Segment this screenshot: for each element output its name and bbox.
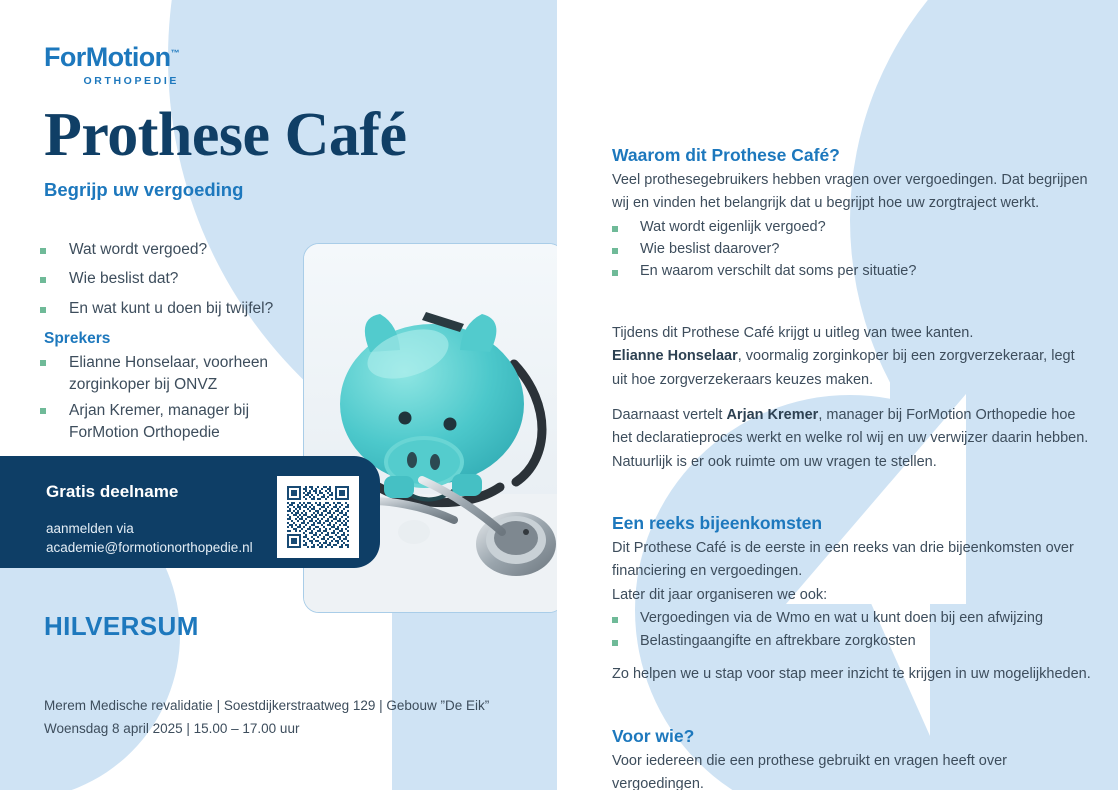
speakers-heading: Sprekers — [44, 330, 110, 348]
section-closing: Zo helpen we u stap voor stap meer inzic… — [612, 663, 1092, 686]
speaker-text: Arjan Kremer, manager bij ForMotion Orth… — [69, 400, 310, 444]
speakers-list: Elianne Honselaar, voorheen zorginkoper … — [40, 352, 310, 448]
trademark-icon: ™ — [171, 48, 179, 58]
section-speakers-intro: Tijdens dit Prothese Café krijgt u uitle… — [612, 322, 1092, 392]
bullet-icon — [612, 617, 618, 623]
series-heading: Een reeks bijeenkomsten — [612, 513, 1092, 534]
signup-title: Gratis deelname — [46, 482, 178, 502]
list-item: Wat wordt vergoed? — [40, 240, 320, 260]
qr-code-icon — [285, 484, 351, 550]
why-bullet-list: Wat wordt eigenlijk vergoed? Wie beslist… — [612, 218, 1092, 281]
list-item: En wat kunt u doen bij twijfel? — [40, 299, 320, 319]
series-bullet-text: Vergoedingen via de Wmo en wat u kunt do… — [640, 609, 1043, 628]
section-speakers-second: Daarnaast vertelt Arjan Kremer, manager … — [612, 404, 1092, 474]
for-who-paragraph: Voor iedereen die een prothese gebruikt … — [612, 750, 1092, 790]
question-list: Wat wordt vergoed? Wie beslist dat? En w… — [40, 240, 320, 328]
signup-line1: aanmelden via — [46, 520, 253, 539]
why-bullet-text: Wat wordt eigenlijk vergoed? — [640, 218, 826, 237]
list-item: Wat wordt eigenlijk vergoed? — [612, 218, 1092, 237]
second-pre: Daarnaast vertelt — [612, 407, 726, 423]
bullet-icon — [40, 360, 46, 366]
right-page: Waarom dit Prothese Café? Veel protheseg… — [560, 0, 1118, 790]
speakers-second-paragraph: Daarnaast vertelt Arjan Kremer, manager … — [612, 404, 1092, 474]
bullet-icon — [40, 277, 46, 283]
list-item: En waarom verschilt dat soms per situati… — [612, 262, 1092, 281]
page-subtitle: Begrijp uw vergoeding — [44, 179, 243, 201]
formotion-logo: ForMotion™ ORTHOPEDIE — [44, 44, 179, 87]
bullet-icon — [40, 248, 46, 254]
flyer-page: ForMotion™ ORTHOPEDIE Prothese Café Begr… — [0, 0, 1118, 790]
speaker-text: Elianne Honselaar, voorheen zorginkoper … — [69, 352, 310, 396]
question-text: Wat wordt vergoed? — [69, 240, 207, 260]
why-heading: Waarom dit Prothese Café? — [612, 145, 1092, 166]
why-bullet-text: En waarom verschilt dat soms per situati… — [640, 262, 916, 281]
question-text: Wie beslist dat? — [69, 269, 178, 289]
series-paragraph-2: Later dit jaar organiseren we ook: — [612, 584, 1092, 607]
intro-line1: Tijdens dit Prothese Café krijgt u uitle… — [612, 325, 973, 341]
city-name: HILVERSUM — [44, 611, 199, 642]
logo-subtitle: ORTHOPEDIE — [44, 75, 179, 87]
bullet-icon — [40, 307, 46, 313]
for-who-heading: Voor wie? — [612, 726, 1092, 747]
series-paragraph: Dit Prothese Café is de eerste in een re… — [612, 537, 1092, 584]
logo-word-text: ForMotion — [44, 42, 171, 72]
section-why: Waarom dit Prothese Café? Veel protheseg… — [612, 145, 1092, 284]
venue-details: Merem Medische revalidatie | Soestdijker… — [44, 694, 489, 741]
bullet-icon — [40, 408, 46, 414]
question-text: En wat kunt u doen bij twijfel? — [69, 299, 273, 319]
venue-address: Merem Medische revalidatie | Soestdijker… — [44, 694, 489, 717]
bullet-icon — [612, 226, 618, 232]
bullet-icon — [612, 640, 618, 646]
why-paragraph: Veel prothesegebruikers hebben vragen ov… — [612, 169, 1092, 216]
list-item: Vergoedingen via de Wmo en wat u kunt do… — [612, 609, 1092, 628]
qr-code[interactable] — [277, 476, 359, 558]
list-item: Elianne Honselaar, voorheen zorginkoper … — [40, 352, 310, 396]
bullet-icon — [612, 248, 618, 254]
speaker-name-2: Arjan Kremer — [726, 407, 818, 423]
venue-datetime: Woensdag 8 april 2025 | 15.00 – 17.00 uu… — [44, 717, 489, 740]
list-item: Wie beslist daarover? — [612, 240, 1092, 259]
signup-email[interactable]: academie@formotionorthopedie.nl — [46, 539, 253, 558]
closing-paragraph: Zo helpen we u stap voor stap meer inzic… — [612, 663, 1092, 686]
list-item: Belastingaangifte en aftrekbare zorgkost… — [612, 632, 1092, 651]
series-bullet-text: Belastingaangifte en aftrekbare zorgkost… — [640, 632, 916, 651]
section-for-who: Voor wie? Voor iedereen die een prothese… — [612, 726, 1092, 790]
series-bullet-list: Vergoedingen via de Wmo en wat u kunt do… — [612, 609, 1092, 650]
logo-wordmark: ForMotion™ — [44, 44, 179, 71]
bullet-icon — [612, 270, 618, 276]
why-bullet-text: Wie beslist daarover? — [640, 240, 779, 259]
left-page: ForMotion™ ORTHOPEDIE Prothese Café Begr… — [0, 0, 557, 790]
page-title: Prothese Café — [44, 104, 407, 166]
signup-details: aanmelden via academie@formotionorthoped… — [46, 520, 253, 557]
speaker-name-1: Elianne Honselaar — [612, 348, 738, 364]
section-series: Een reeks bijeenkomsten Dit Prothese Caf… — [612, 513, 1092, 654]
list-item: Wie beslist dat? — [40, 269, 320, 289]
list-item: Arjan Kremer, manager bij ForMotion Orth… — [40, 400, 310, 444]
speakers-intro-paragraph: Tijdens dit Prothese Café krijgt u uitle… — [612, 322, 1092, 392]
